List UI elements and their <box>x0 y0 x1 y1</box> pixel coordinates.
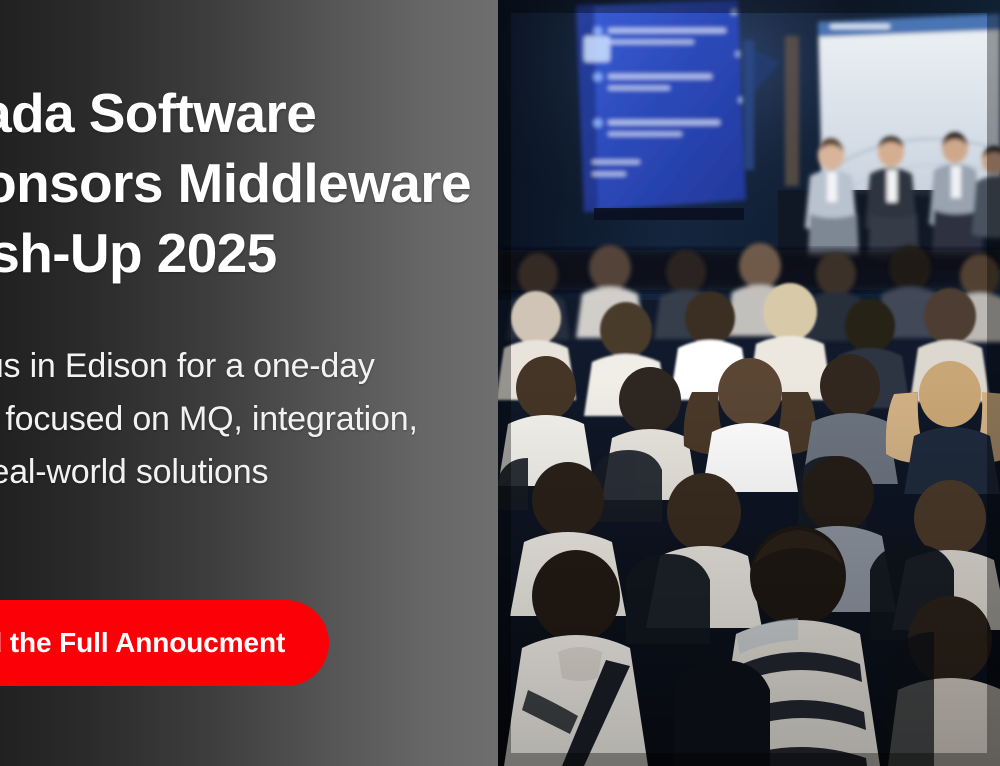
subtitle-line-3: and real-world solutions <box>0 446 498 499</box>
subtitle: Join us in Edison for a one-day event fo… <box>0 340 498 499</box>
conference-audience-photo <box>498 0 1000 766</box>
headline-line-2: Sponsors Middleware <box>0 148 498 218</box>
page-title: Avada Software Sponsors Middleware Mash-… <box>0 78 498 288</box>
headline-line-3: Mash-Up 2025 <box>0 218 498 288</box>
photo-illustration <box>498 0 1000 766</box>
event-announcement-banner: Avada Software Sponsors Middleware Mash-… <box>0 0 1000 766</box>
headline-line-1: Avada Software <box>0 78 498 148</box>
read-full-announcement-button[interactable]: Read the Full Annoucment <box>0 600 329 686</box>
subtitle-line-1: Join us in Edison for a one-day <box>0 340 498 393</box>
text-panel: Avada Software Sponsors Middleware Mash-… <box>0 0 498 766</box>
subtitle-line-2: event focused on MQ, integration, <box>0 393 498 446</box>
